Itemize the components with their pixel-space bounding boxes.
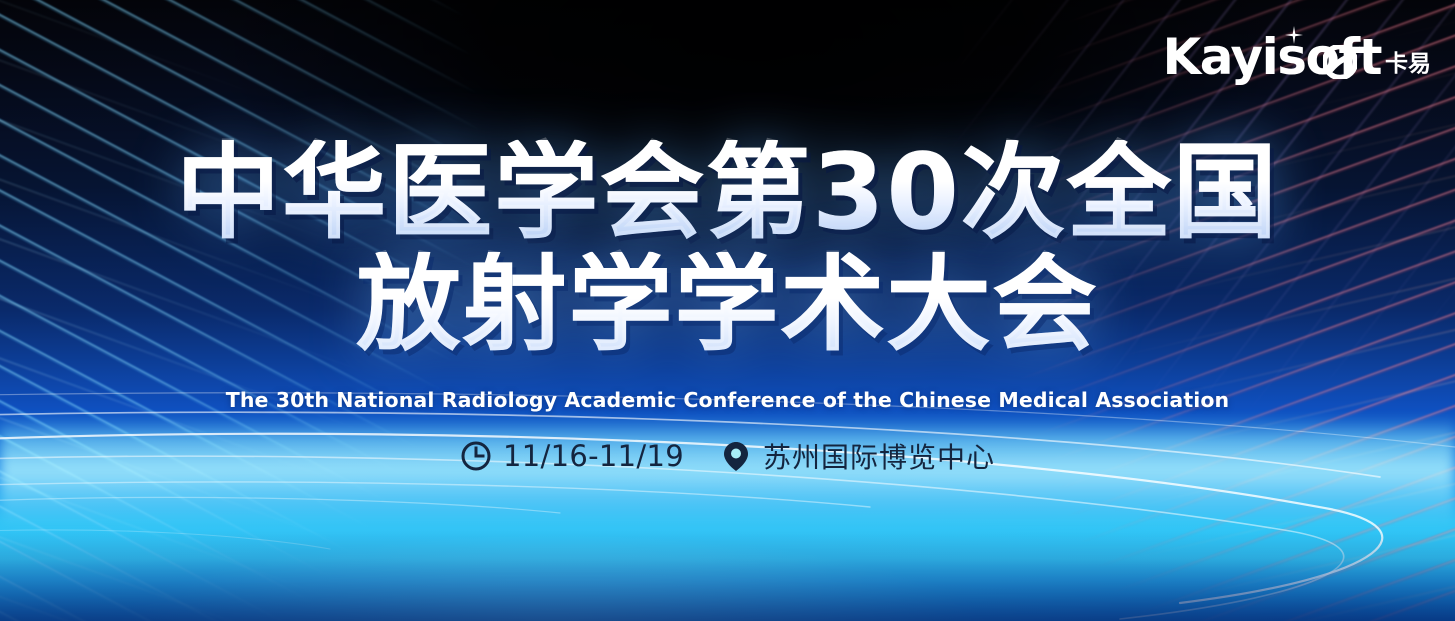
kayisoft-logo[interactable]: Kayisoft 卡易 bbox=[1163, 32, 1431, 82]
logo-chinese-mark: 卡易 bbox=[1385, 53, 1431, 76]
title-line-2: 放射学学术大会 bbox=[0, 252, 1455, 356]
event-date-item: 11/16-11/19 bbox=[460, 439, 684, 473]
event-venue-label: 苏州国际博览中心 bbox=[763, 436, 995, 476]
page-title: 中华医学会第30次全国 放射学学术大会 bbox=[0, 140, 1455, 356]
event-info-row: 11/16-11/19 苏州国际博览中心 bbox=[0, 436, 1455, 476]
event-date-label: 11/16-11/19 bbox=[503, 439, 684, 473]
clock-icon bbox=[460, 440, 492, 472]
title-subtitle-english: The 30th National Radiology Academic Con… bbox=[0, 388, 1455, 412]
event-venue-item: 苏州国际博览中心 bbox=[720, 436, 995, 476]
map-pin-icon bbox=[720, 440, 752, 472]
logo-wordmark: Kayisoft bbox=[1163, 32, 1381, 82]
conference-banner: Kayisoft 卡易 中华医学会第30次全国 放射学学术大会 The 30th… bbox=[0, 0, 1455, 621]
title-line-1: 中华医学会第30次全国 bbox=[0, 140, 1455, 244]
